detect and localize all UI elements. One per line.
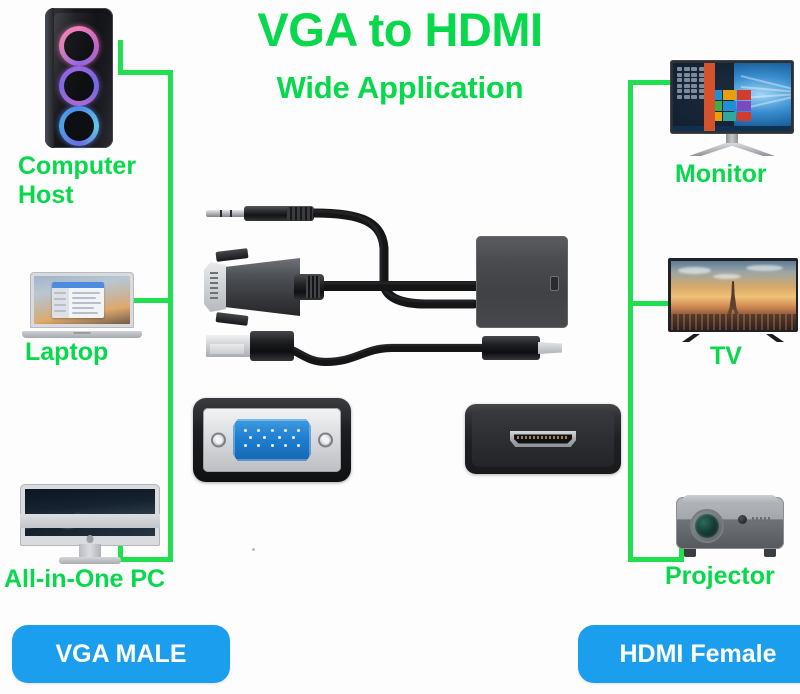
vga-thumbscrew-top — [216, 248, 249, 262]
monitor-bezel — [670, 60, 794, 134]
imac-stand-foot — [59, 557, 121, 564]
hdmi-adapter-housing — [476, 236, 568, 328]
usb-a-power-plug — [206, 331, 316, 361]
projector-vents — [752, 517, 772, 523]
label-projector: Projector — [665, 562, 775, 591]
micro-usb-plug — [482, 336, 566, 360]
badge-hdmi-female: HDMI Female — [578, 625, 800, 683]
imac-screen — [25, 489, 155, 536]
left-branch-computer-host — [118, 70, 173, 75]
badge-vga-male: VGA MALE — [12, 625, 230, 683]
monitor-stand-base — [689, 143, 775, 156]
usb-a-inner-tongue — [210, 344, 244, 354]
imac-stand-neck — [79, 544, 101, 558]
device-laptop — [22, 272, 142, 338]
device-desktop-tower — [45, 8, 113, 148]
imac-logo — [87, 535, 94, 543]
vga-boot-ribs — [306, 276, 320, 298]
usb-a-metal-shell — [206, 335, 254, 357]
micro-usb-metal-tip — [538, 342, 562, 354]
device-all-in-one-pc — [20, 484, 160, 564]
vga-pin-grid — [244, 429, 300, 451]
projector-foot-left — [684, 549, 696, 557]
audio-jack-tip — [206, 210, 246, 217]
windows-taskbar — [673, 126, 791, 131]
tv-screen — [671, 261, 796, 330]
label-laptop: Laptop — [25, 338, 108, 367]
hdmi-contacts — [517, 436, 569, 439]
label-monitor: Monitor — [675, 160, 767, 189]
projector-foot-right — [764, 549, 776, 557]
projector-sensor-icon — [738, 515, 747, 524]
vga-screw-hole-right — [318, 433, 333, 448]
finder-titlebar — [52, 282, 104, 288]
imac-chin — [20, 514, 160, 528]
vga-female-face — [193, 398, 351, 482]
vga-screw-hole-left — [211, 433, 226, 448]
vga-thumbscrew-bottom — [216, 312, 249, 326]
tv-bezel — [668, 258, 798, 332]
product-adapter-assembly — [186, 186, 586, 382]
audio-jack-ring-1 — [220, 210, 222, 217]
right-connector-spine — [628, 80, 633, 562]
tower-side-bevel — [45, 8, 54, 148]
image-speck — [252, 548, 255, 551]
device-monitor — [670, 60, 794, 156]
device-projector — [672, 495, 788, 557]
projector-lens — [695, 514, 719, 538]
taskbar-highlight — [704, 63, 716, 131]
vga-male-connector — [198, 248, 318, 326]
audio-jack-ring-2 — [230, 210, 232, 217]
tv-leg-left — [682, 334, 700, 342]
start-menu-app-list — [677, 67, 705, 102]
usb-a-hood — [250, 331, 294, 361]
label-all-in-one-pc: All-in-One PC — [4, 565, 165, 594]
projector-top-cover — [682, 495, 778, 504]
laptop-lid — [30, 272, 134, 328]
micro-usb-hood — [482, 336, 540, 360]
monitor-screen — [673, 63, 791, 131]
audio-jack-strain-relief — [287, 207, 313, 220]
tv-cityscape — [671, 314, 796, 329]
left-connector-spine — [168, 70, 173, 562]
hdmi-female-port — [465, 404, 621, 474]
label-tv: TV — [710, 342, 742, 371]
device-tv — [668, 258, 798, 342]
label-computer-host: Computer Host — [18, 152, 136, 210]
laptop-finder-window — [52, 282, 104, 318]
laptop-screen — [34, 276, 130, 324]
adapter-side-port — [550, 276, 559, 291]
projector-lens-ring — [690, 509, 724, 543]
infographic-canvas: VGA to HDMI Wide Application Computer Ho… — [0, 0, 800, 694]
laptop-notch — [73, 332, 91, 334]
left-branch-computer-host-drop — [118, 40, 123, 73]
vga-pin-row — [210, 272, 218, 302]
tower-glass-panel — [54, 13, 106, 143]
tv-leg-right — [766, 334, 784, 342]
monitor-stand-neck — [726, 134, 738, 144]
